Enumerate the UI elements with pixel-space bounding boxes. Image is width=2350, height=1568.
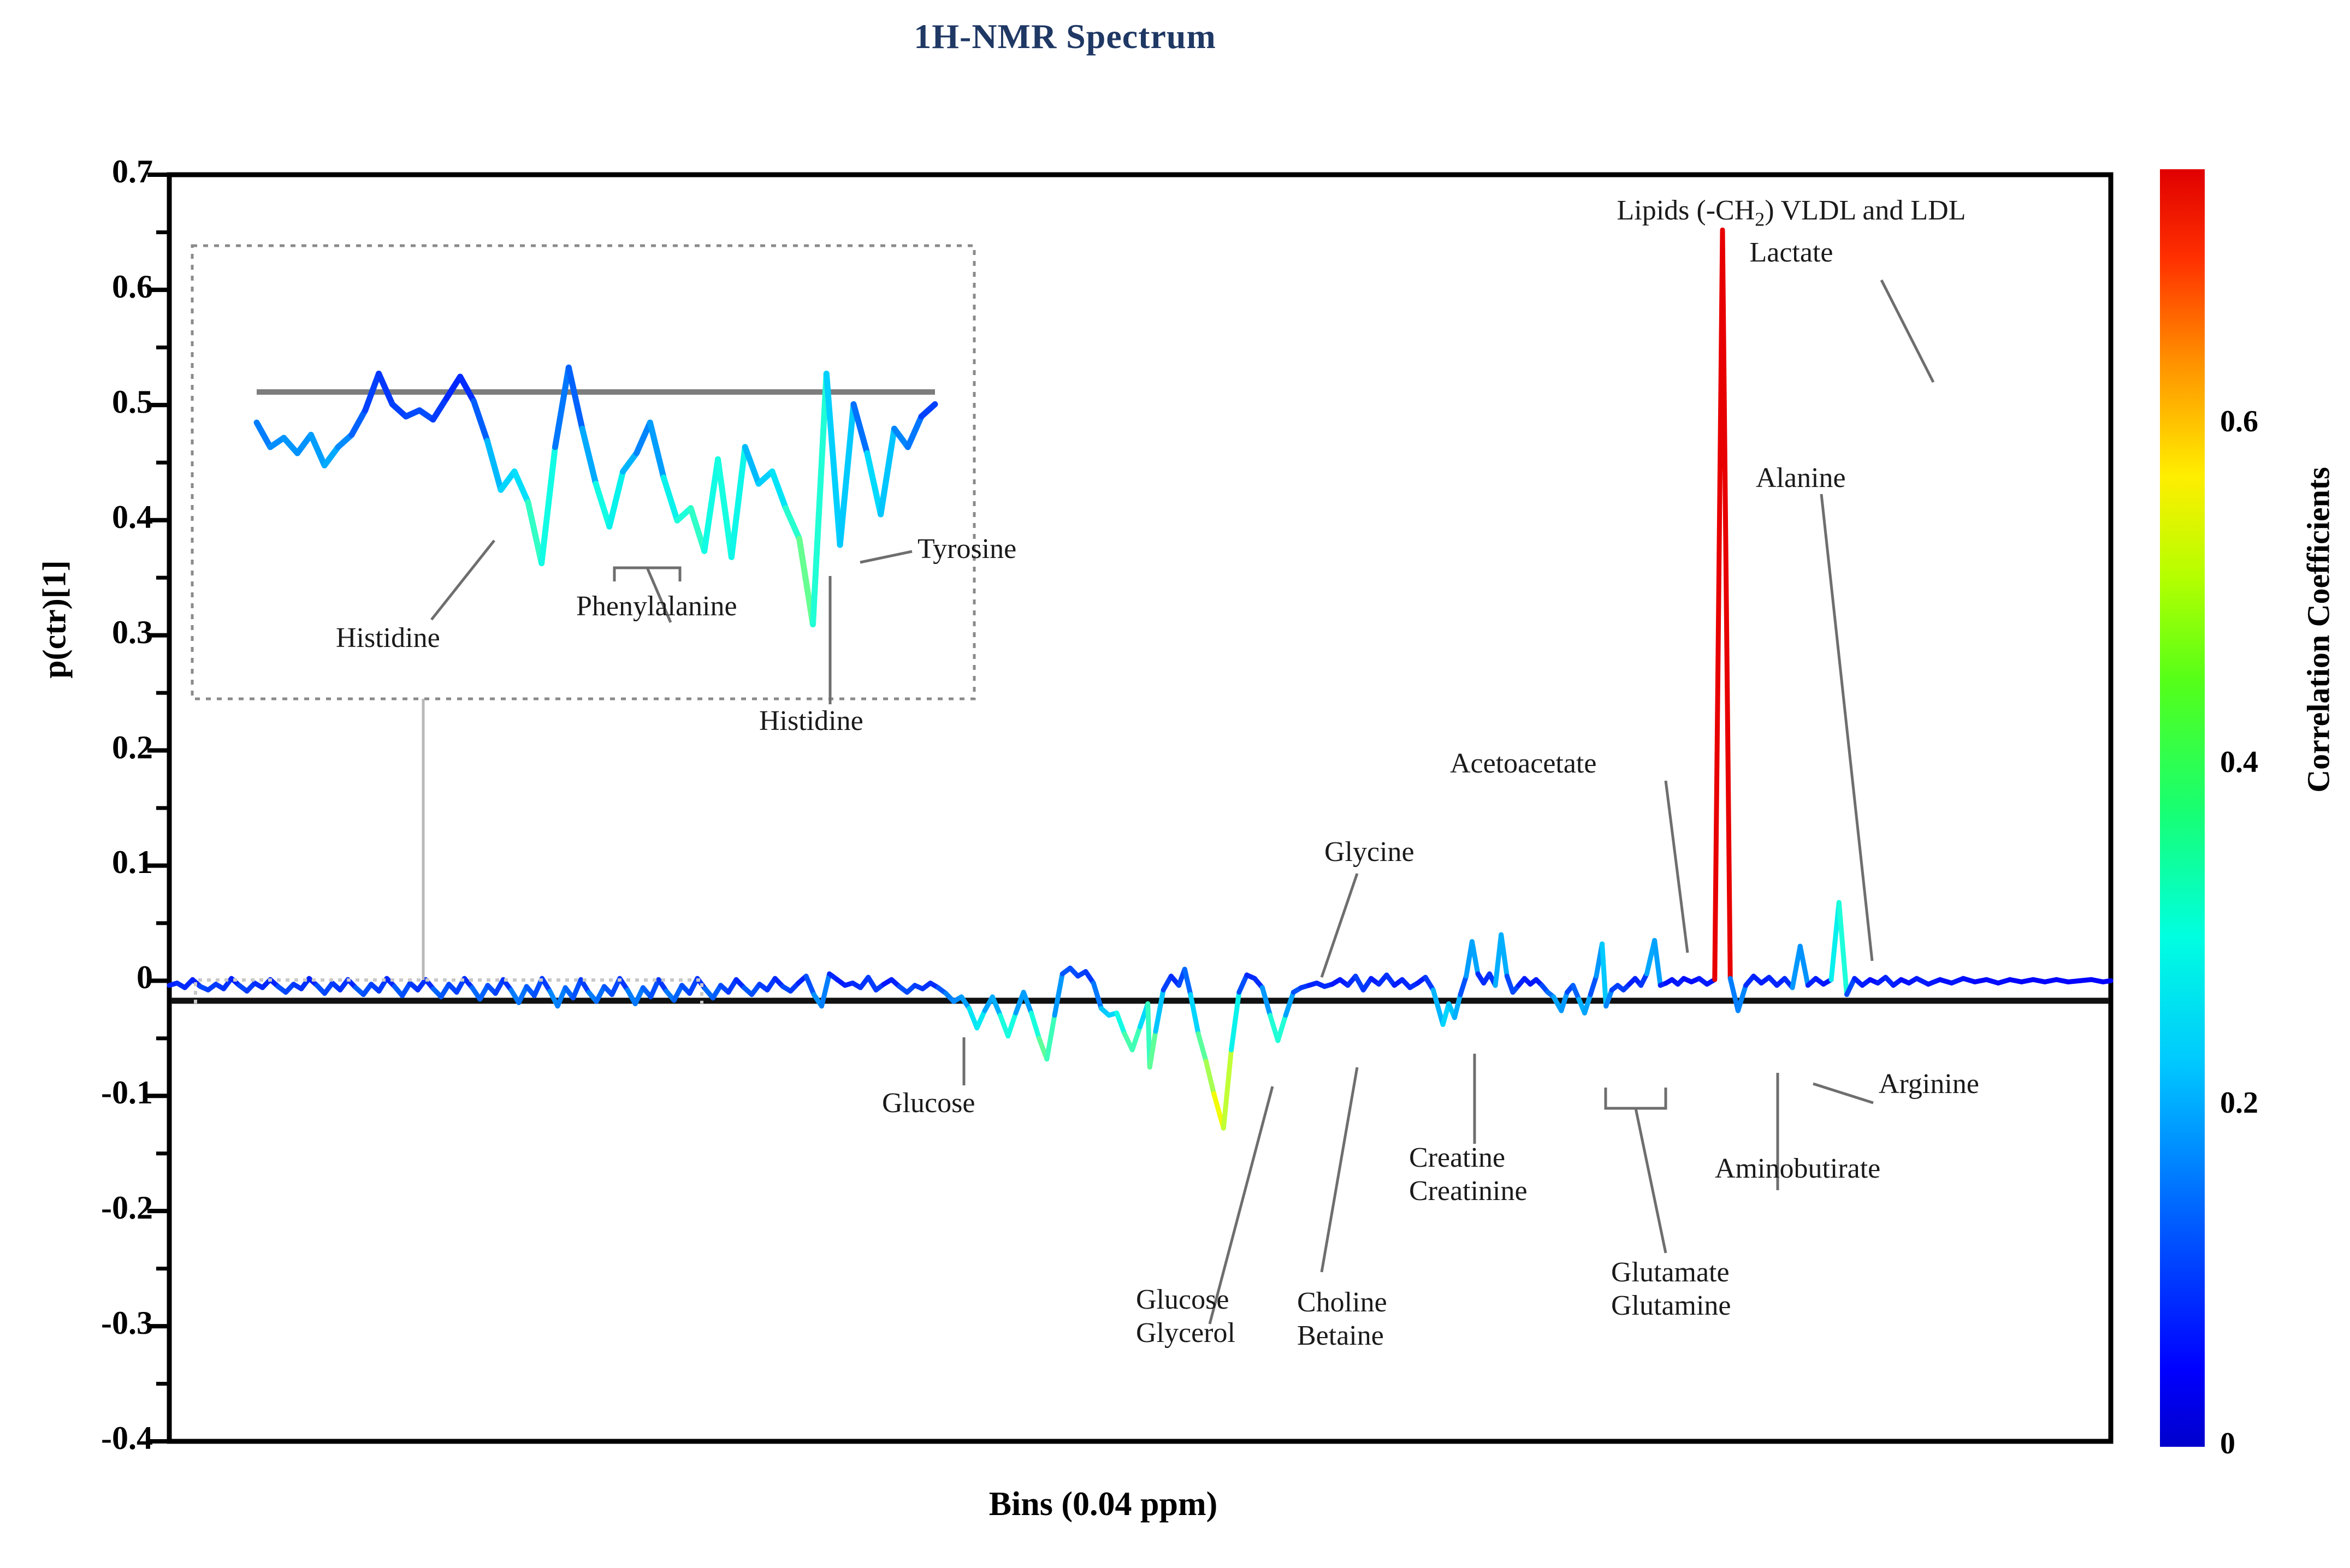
annotation-glycerol-line2: Glycerol [1136, 1316, 1235, 1350]
annotation-choline-betaine: Choline Betaine [1297, 1286, 1387, 1353]
annotation-alanine: Alanine [1756, 461, 1846, 495]
annotation-arginine: Arginine [1879, 1067, 1979, 1101]
inset-annotation-phenylalanine: Phenylalanine [576, 590, 737, 623]
annotation-choline-line1: Choline [1297, 1286, 1387, 1319]
annotation-glutamine-line2: Glutamine [1611, 1289, 1731, 1322]
annotation-glucose: Glucose [882, 1086, 975, 1120]
inset-annotation-histidine-left: Histidine [336, 621, 440, 655]
chart-canvas: 1H-NMR Spectrum p(ctr)[1] Bins (0.04 ppm… [0, 0, 2350, 1568]
inset-panel [192, 246, 974, 1003]
annotation-lipids: Lipids (-CH2) VLDL and LDL [1518, 194, 2064, 231]
annotation-glucose-line1: Glucose [1136, 1283, 1235, 1316]
annotation-creatine-creatinine: Creatine Creatinine [1409, 1141, 1528, 1208]
annotation-creatine-line1: Creatine [1409, 1141, 1528, 1174]
inset-annotation-tyrosine: Tyrosine [917, 532, 1016, 566]
annotation-creatinine-line2: Creatinine [1409, 1174, 1528, 1208]
annotation-glycine: Glycine [1324, 835, 1414, 869]
colorbar [2160, 158, 2269, 1523]
annotation-glutamate-line1: Glutamate [1611, 1256, 1731, 1289]
annotation-glutamate: Glutamate Glutamine [1611, 1256, 1731, 1323]
annotation-glucose-glycerol: Glucose Glycerol [1136, 1283, 1235, 1350]
annotation-acetoacetate: Acetoacetate [1450, 747, 1596, 780]
annotation-betaine-line2: Betaine [1297, 1319, 1387, 1352]
annotation-lactate: Lactate [1649, 236, 1933, 269]
y-axis-ticks [147, 175, 169, 1441]
inset-annotation-histidine-center: Histidine [759, 704, 863, 738]
annotation-aminobutirate: Aminobutirate [1715, 1152, 1880, 1185]
